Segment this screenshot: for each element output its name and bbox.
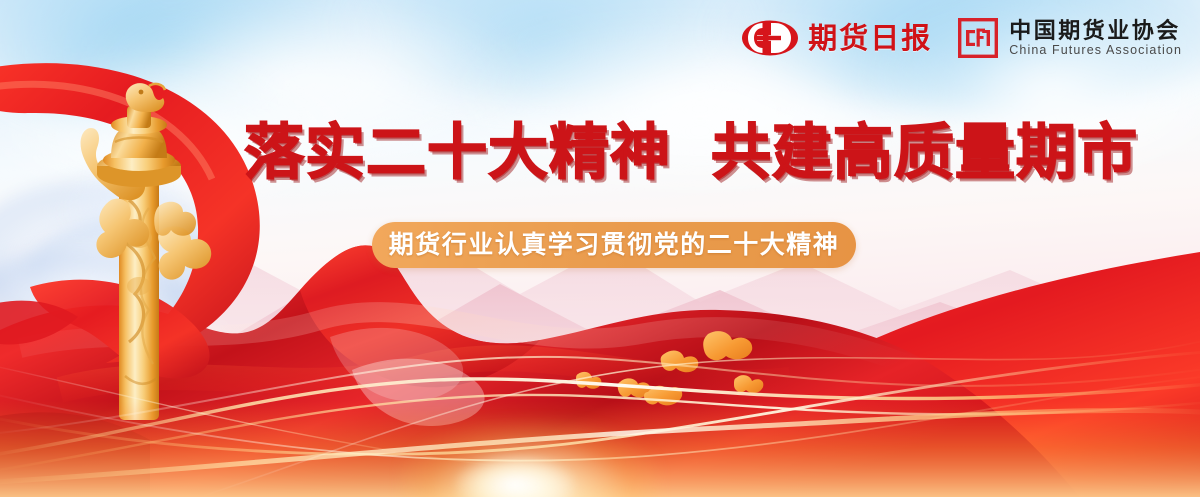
china-futures-association-logo[interactable]: 中国期货业协会 China Futures Association — [958, 18, 1182, 58]
headline-part-2: 共建高质量期市 — [711, 122, 1138, 185]
promo-banner: 期货日报 中国期货业协会 China Futures Associatio — [0, 0, 1200, 497]
banner-subtitle-pill: 期货行业认真学习贯彻党的二十大精神 — [372, 222, 856, 268]
cfa-seal-icon — [958, 18, 998, 58]
golden-light-streaks — [0, 317, 1200, 497]
banner-headline: 落实二十大精神 共建高质量期市 — [244, 122, 1138, 185]
sky-cloud-icon — [330, 0, 760, 100]
cfa-name-cn: 中国期货业协会 — [1009, 19, 1182, 42]
headline-part-1: 落实二十大精神 — [244, 122, 671, 185]
ad-monogram-icon — [741, 20, 799, 56]
banner-subtitle-text: 期货行业认真学习贯彻党的二十大精神 — [389, 233, 840, 258]
futures-daily-logo[interactable]: 期货日报 — [741, 20, 932, 56]
logo-group: 期货日报 中国期货业协会 China Futures Associatio — [741, 18, 1182, 58]
futures-daily-name: 期货日报 — [808, 24, 932, 53]
cfa-name-en: China Futures Association — [1009, 44, 1182, 57]
